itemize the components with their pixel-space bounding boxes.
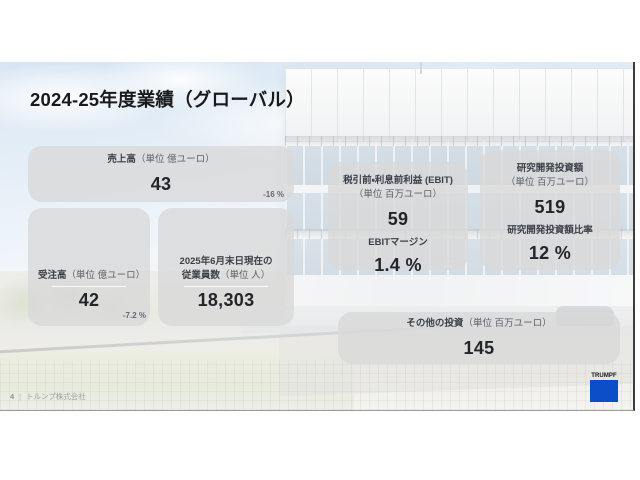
kpi-value-employees: 18,303 bbox=[168, 290, 284, 312]
kpi-sublabel-ebit-margin: EBITマージン bbox=[338, 234, 458, 248]
footer-company-name: トルンプ株式会社 bbox=[26, 391, 86, 402]
kpi-card-other-investments: その他の投資（単位 百万ユーロ） 145 bbox=[338, 312, 620, 364]
photo-railing bbox=[285, 136, 633, 146]
kpi-label-employees-unit: （単位 人） bbox=[220, 270, 270, 281]
kpi-label-orders-unit: （単位 億ユーロ） bbox=[67, 270, 146, 281]
kpi-delta-orders: -7.2 % bbox=[123, 311, 146, 320]
kpi-value-sales: 43 bbox=[38, 174, 284, 196]
kpi-card-ebit: 税引前・利息前利益 (EBIT) （単位 百万ユーロ） 59 EBITマージン … bbox=[328, 162, 468, 270]
trumpf-wordmark: TRUMPF bbox=[589, 373, 619, 379]
photo-mast bbox=[420, 62, 422, 74]
kpi-value-ebit: 59 bbox=[338, 209, 458, 231]
kpi-label-orders: 受注高（単位 億ユーロ） bbox=[38, 269, 140, 283]
kpi-label-employees-main: 従業員数 bbox=[182, 270, 220, 281]
kpi-label-rd-main: 研究開発投資額 bbox=[517, 163, 584, 174]
presentation-slide: 2024-25年度業績（グローバル） 売上高（単位 億ユーロ） 43 -16 %… bbox=[0, 62, 635, 411]
kpi-subvalue-ebit-margin: 1.4 % bbox=[338, 255, 458, 277]
kpi-value-orders: 42 bbox=[38, 290, 140, 312]
divider bbox=[184, 286, 268, 287]
kpi-label-orders-main: 受注高 bbox=[38, 270, 67, 281]
kpi-delta-sales: -16 % bbox=[263, 190, 284, 199]
page-number: 4 bbox=[10, 392, 14, 401]
photo-building-panels bbox=[285, 69, 633, 141]
kpi-label-ebit-unit: （単位 百万ユーロ） bbox=[354, 189, 442, 200]
kpi-label-sales-unit: （単位 億ユーロ） bbox=[136, 154, 215, 165]
kpi-label-employees-line1: 2025年6月末日現在の bbox=[180, 256, 273, 267]
kpi-card-rd-investment: 研究開発投資額 （単位 百万ユーロ） 519 研究開発投資額比率 12 % bbox=[480, 150, 620, 270]
kpi-card-orders: 受注高（単位 億ユーロ） 42 -7.2 % bbox=[28, 208, 150, 326]
page-title: 2024-25年度業績（グローバル） bbox=[30, 86, 305, 112]
photo-fence bbox=[0, 361, 633, 410]
kpi-label-rd-unit: （単位 百万ユーロ） bbox=[506, 177, 594, 188]
divider bbox=[52, 286, 125, 287]
kpi-label-sales-main: 売上高 bbox=[107, 154, 136, 165]
kpi-card-employees: 2025年6月末日現在の 従業員数（単位 人） 18,303 bbox=[158, 208, 294, 326]
kpi-label-other-main: その他の投資 bbox=[406, 318, 463, 329]
kpi-value-other: 145 bbox=[348, 338, 610, 360]
kpi-label-other-unit: （単位 百万ユーロ） bbox=[463, 318, 551, 329]
kpi-label-other: その他の投資（単位 百万ユーロ） bbox=[348, 317, 610, 331]
screenshot-root: 2024-25年度業績（グローバル） 売上高（単位 億ユーロ） 43 -16 %… bbox=[0, 0, 640, 480]
kpi-card-sales: 売上高（単位 億ユーロ） 43 -16 % bbox=[28, 146, 294, 202]
kpi-value-rd: 519 bbox=[490, 197, 610, 219]
trumpf-logo: TRUMPF bbox=[589, 373, 619, 402]
kpi-sublabel-rd-ratio: 研究開発投資額比率 bbox=[490, 222, 610, 236]
kpi-label-ebit: 税引前・利息前利益 (EBIT) （単位 百万ユーロ） bbox=[338, 174, 458, 202]
kpi-subvalue-rd-ratio: 12 % bbox=[490, 243, 610, 265]
kpi-label-sales: 売上高（単位 億ユーロ） bbox=[38, 153, 284, 167]
trumpf-square-mark bbox=[590, 380, 618, 402]
kpi-label-rd: 研究開発投資額 （単位 百万ユーロ） bbox=[490, 162, 610, 190]
kpi-label-ebit-main: 税引前・利息前利益 (EBIT) bbox=[343, 175, 453, 186]
footer-separator: | bbox=[19, 392, 21, 401]
slide-footer: 4 | トルンプ株式会社 bbox=[10, 391, 86, 402]
kpi-label-employees: 2025年6月末日現在の 従業員数（単位 人） bbox=[168, 255, 284, 283]
